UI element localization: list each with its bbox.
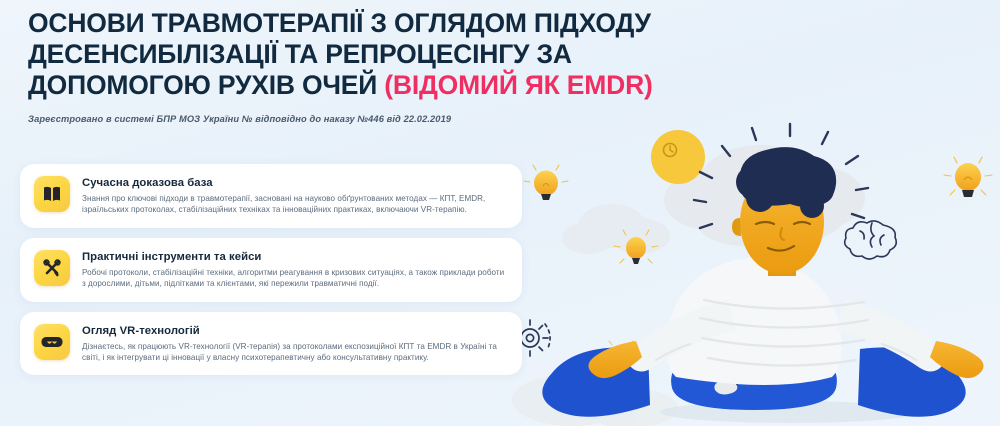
card-title: Огляд VR-технологій xyxy=(82,325,506,337)
meditating-person-illustration xyxy=(542,124,983,417)
title-line-2: ДЕСЕНСИБІЛІЗАЦІЇ ТА РЕПРОЦЕСІНГУ ЗА xyxy=(28,39,572,69)
cloud-icon xyxy=(512,374,678,426)
card-text: Знання про ключові підходи в травмотерап… xyxy=(82,193,506,216)
vr-goggles-icon xyxy=(34,324,70,360)
title-line-1: ОСНОВИ ТРАВМОТЕРАПІЇ З ОГЛЯДОМ ПІДХОДУ xyxy=(28,8,651,38)
shadow-ellipse xyxy=(660,401,920,423)
page-title: ОСНОВИ ТРАВМОТЕРАПІЇ З ОГЛЯДОМ ПІДХОДУ Д… xyxy=(28,8,748,101)
card-title: Сучасна доказова база xyxy=(82,177,506,189)
card-text: Робочі протоколи, стабілізаційні техніки… xyxy=(82,267,506,290)
sun-icon xyxy=(651,130,705,184)
title-accent-emdr: (ВІДОМИЙ ЯК EMDR) xyxy=(384,70,652,100)
feature-card[interactable]: Огляд VR-технологій Дізнаєтесь, як працю… xyxy=(20,312,522,376)
registration-note: Зареєстровано в системі БПР МОЗ України … xyxy=(28,114,748,124)
feature-card[interactable]: Сучасна доказова база Знання про ключові… xyxy=(20,164,522,228)
card-body: Сучасна доказова база Знання про ключові… xyxy=(82,176,506,216)
lightbulb-icon xyxy=(602,341,640,369)
card-body: Практичні інструменти та кейси Робочі пр… xyxy=(82,250,506,290)
feature-card[interactable]: Практичні інструменти та кейси Робочі пр… xyxy=(20,238,522,302)
title-line-3: ДОПОМОГОЮ РУХІВ ОЧЕЙ xyxy=(28,70,384,100)
card-body: Огляд VR-технологій Дізнаєтесь, як працю… xyxy=(82,324,506,364)
tools-icon xyxy=(34,250,70,286)
lightbulb-icon xyxy=(614,230,658,264)
lightbulb-icon xyxy=(524,165,568,200)
cloud-icon xyxy=(562,204,670,254)
card-text: Дізнаєтесь, як працюють VR-технології (V… xyxy=(82,341,506,364)
open-book-icon xyxy=(34,176,70,212)
page-header: ОСНОВИ ТРАВМОТЕРАПІЇ З ОГЛЯДОМ ПІДХОДУ Д… xyxy=(28,8,748,124)
cloud-icon xyxy=(664,145,865,246)
feature-card-list: Сучасна доказова база Знання про ключові… xyxy=(20,164,522,375)
lightbulb-icon xyxy=(944,157,992,197)
brain-icon xyxy=(845,221,897,259)
card-title: Практичні інструменти та кейси xyxy=(82,251,506,263)
